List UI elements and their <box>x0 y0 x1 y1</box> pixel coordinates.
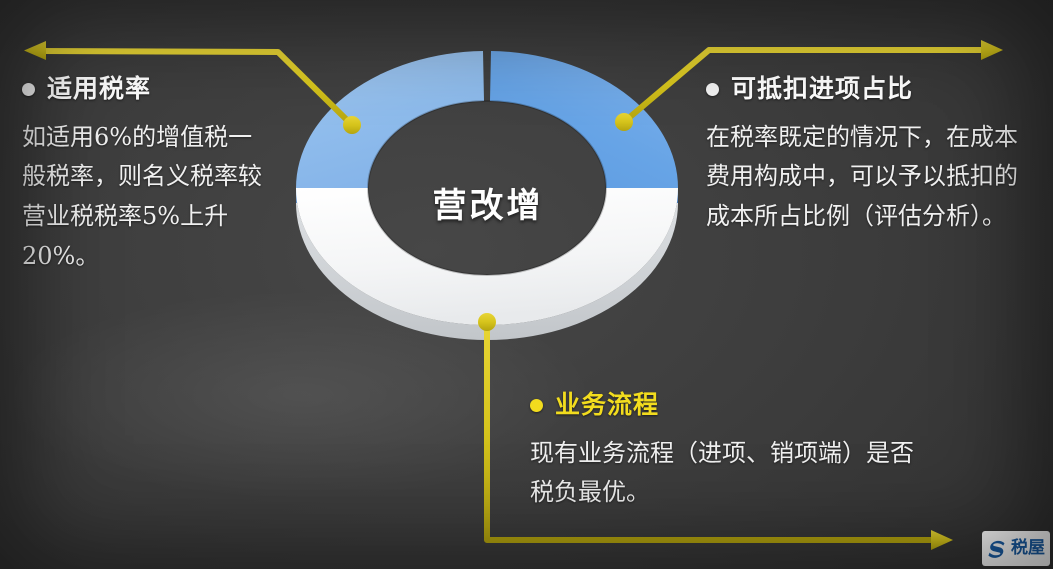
callout-right: 可抵扣进项占比 在税率既定的情况下，在成本费用构成中，可以予以抵扣的成本所占比例… <box>706 76 1026 237</box>
donut-segment-applicable-tax-rate[interactable] <box>296 51 484 188</box>
donut-segment-deductible-input-ratio[interactable] <box>490 51 678 188</box>
bullet-icon <box>530 399 543 412</box>
callout-right-body: 在税率既定的情况下，在成本费用构成中，可以予以抵扣的成本所占比例（评估分析）。 <box>706 118 1022 237</box>
callout-right-title: 可抵扣进项占比 <box>731 76 913 104</box>
callout-left-heading: 适用税率 <box>22 76 284 104</box>
callout-bottom-title: 业务流程 <box>555 392 659 420</box>
bullet-icon <box>706 83 719 96</box>
slide-canvas: 营改增 <box>0 0 1053 569</box>
watermark-text: 税屋 <box>1011 540 1045 557</box>
callout-left: 适用税率 如适用6%的增值税一般税率，则名义税率较营业税税率5%上升20%。 <box>22 76 284 277</box>
callout-bottom-heading: 业务流程 <box>530 392 940 420</box>
s-logo-icon <box>985 537 1009 561</box>
callout-left-body: 如适用6%的增值税一般税率，则名义税率较营业税税率5%上升20%。 <box>22 118 272 277</box>
callout-right-heading: 可抵扣进项占比 <box>706 76 1026 104</box>
callout-bottom-body: 现有业务流程（进项、销项端）是否税负最优。 <box>530 434 930 514</box>
donut-center-label: 营改增 <box>388 178 588 227</box>
callout-left-title: 适用税率 <box>47 76 151 104</box>
bullet-icon <box>22 83 35 96</box>
watermark-logo: 税屋 <box>982 531 1050 566</box>
callout-bottom: 业务流程 现有业务流程（进项、销项端）是否税负最优。 <box>530 392 940 513</box>
